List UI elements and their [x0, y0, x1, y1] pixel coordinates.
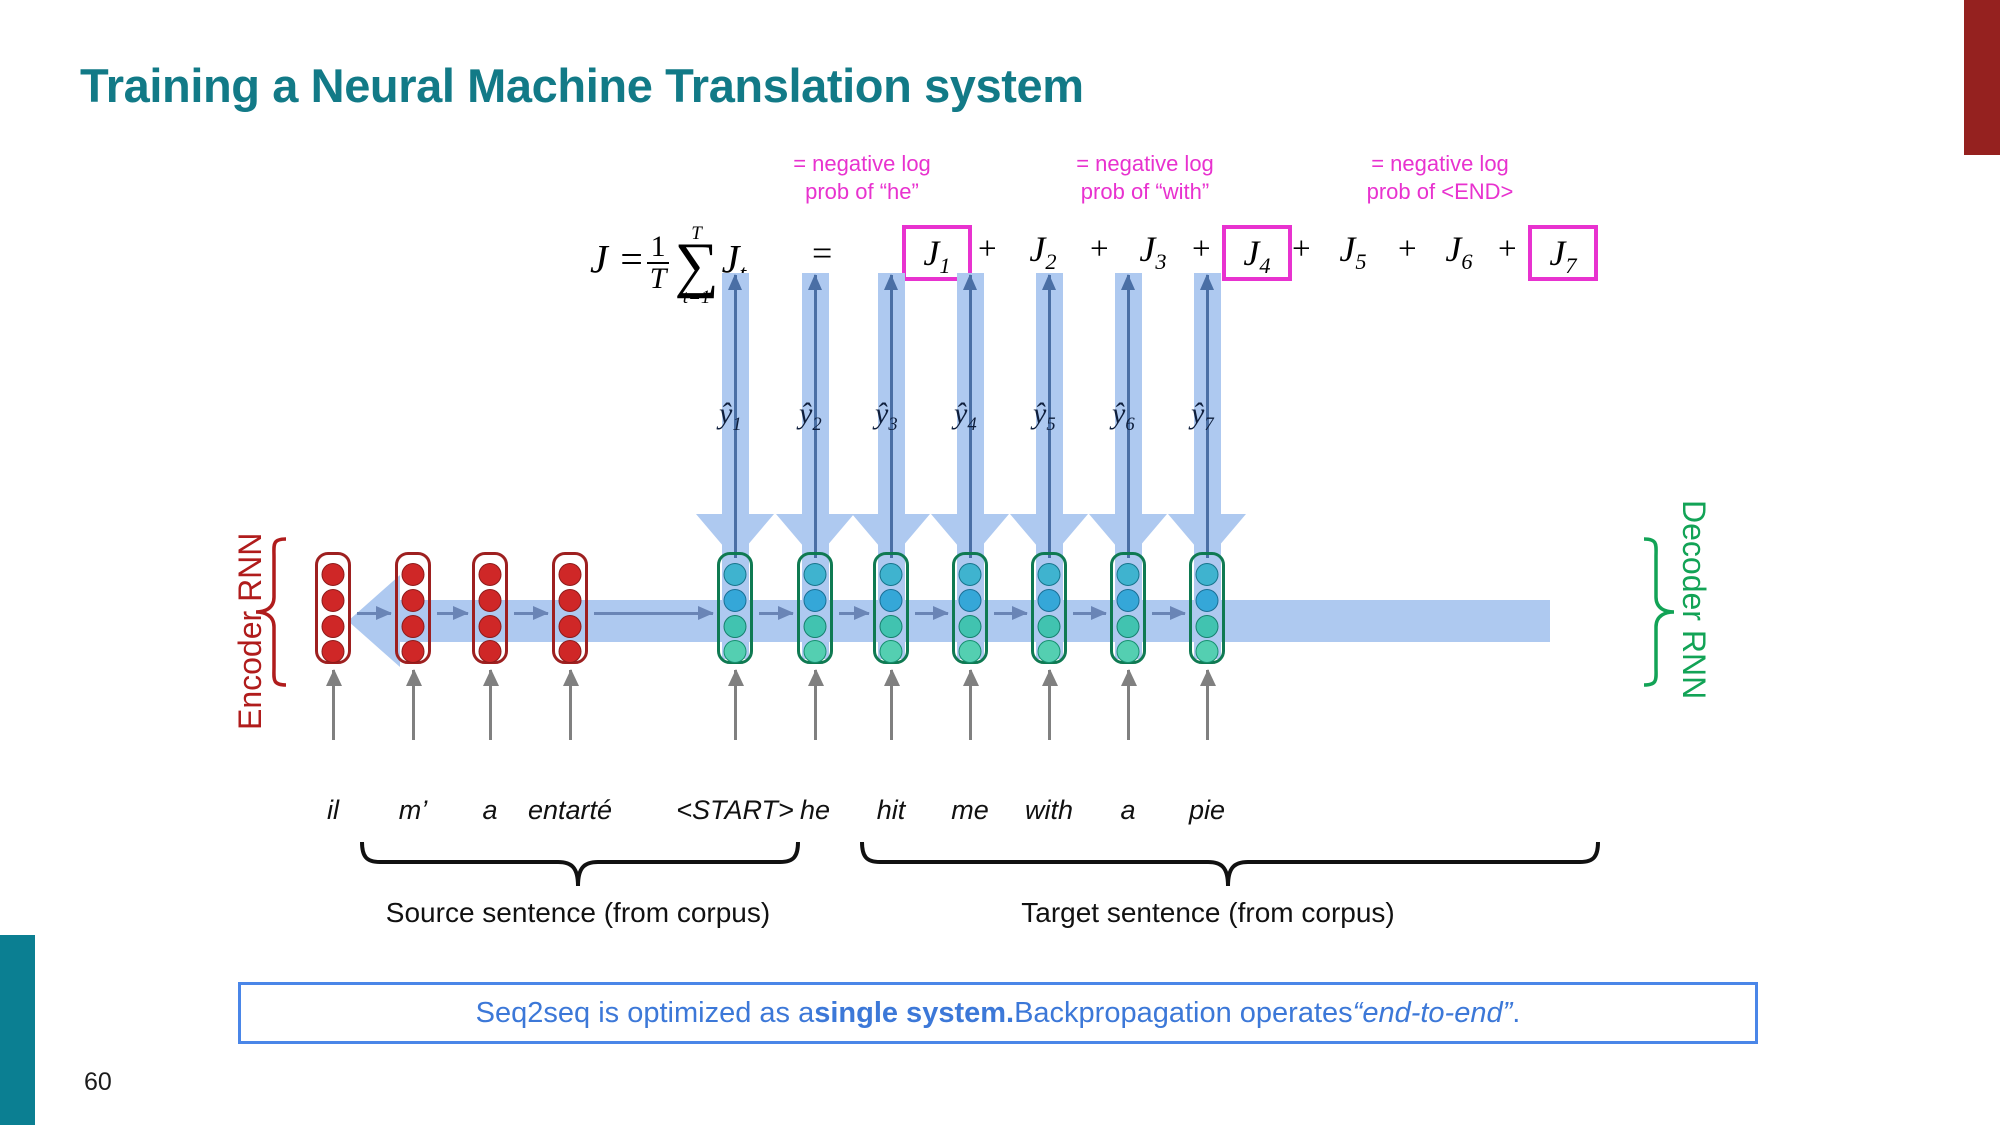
annotation-j1-line1: = negative log	[747, 150, 977, 178]
input-arrow-2	[412, 670, 415, 740]
prediction-label-6: ŷ6	[1112, 397, 1135, 436]
caption-italic: “end-to-end”	[1353, 997, 1513, 1030]
loss-term-j5: J5	[1322, 225, 1384, 273]
annotation-j7-line1: = negative log	[1325, 150, 1555, 178]
hidden-state-arrow-6	[839, 612, 869, 615]
hidden-state-arrow-10	[1152, 612, 1185, 615]
yhat-subscript: 5	[1046, 414, 1055, 435]
decoder-cell-2[interactable]	[797, 552, 833, 664]
decoder-cell-1[interactable]	[717, 552, 753, 664]
encoder-node	[322, 640, 345, 663]
loss-term-j3: J3	[1122, 225, 1184, 273]
decoder-node	[1117, 640, 1140, 663]
word-label-8: me	[951, 795, 989, 826]
encoder-node	[322, 563, 345, 586]
slide-canvas: Training a Neural Machine Translation sy…	[0, 0, 2000, 1125]
prediction-label-5: ŷ5	[1033, 397, 1056, 436]
decoder-cell-6[interactable]	[1110, 552, 1146, 664]
input-arrow-7	[890, 670, 893, 740]
decoder-rnn-label: Decoder RNN	[1675, 500, 1712, 699]
word-label-5: <START>	[676, 795, 794, 826]
encoder-node	[559, 640, 582, 663]
yhat-symbol: ŷ	[1191, 397, 1204, 430]
encoder-node	[402, 589, 425, 612]
decoder-node	[1117, 615, 1140, 638]
annotation-j4: = negative log prob of “with”	[1030, 150, 1260, 205]
decoder-node	[1196, 640, 1219, 663]
annotation-j1: = negative log prob of “he”	[747, 150, 977, 205]
decoder-cell-3[interactable]	[873, 552, 909, 664]
decoder-node	[804, 615, 827, 638]
prediction-label-4: ŷ4	[954, 397, 977, 436]
encoder-node	[402, 615, 425, 638]
hidden-state-arrow-1	[357, 612, 391, 615]
encoder-node	[559, 563, 582, 586]
input-arrow-9	[1048, 670, 1051, 740]
yhat-symbol: ŷ	[719, 397, 732, 430]
decoder-node	[1038, 615, 1061, 638]
plus-3: +	[1192, 225, 1211, 273]
word-label-9: with	[1025, 795, 1073, 826]
yhat-symbol: ŷ	[799, 397, 812, 430]
decoder-node	[1196, 589, 1219, 612]
encoder-cell-1[interactable]	[315, 552, 351, 664]
word-label-11: pie	[1189, 795, 1225, 826]
decoder-node	[724, 589, 747, 612]
decoder-node	[959, 563, 982, 586]
decoder-cell-5[interactable]	[1031, 552, 1067, 664]
encoder-cell-3[interactable]	[472, 552, 508, 664]
loss-terms-row: J1 + J2 + J3 + J4 + J5 + J6 + J7	[0, 225, 2000, 277]
caption-box: Seq2seq is optimized as a single system.…	[238, 982, 1758, 1044]
hidden-state-arrow-4	[594, 612, 713, 615]
hidden-state-arrow-5	[759, 612, 793, 615]
decoder-node	[959, 640, 982, 663]
decoder-node	[1196, 563, 1219, 586]
word-label-1: il	[327, 795, 339, 826]
input-arrow-5	[734, 670, 737, 740]
decoder-node	[804, 563, 827, 586]
plus-1: +	[978, 225, 997, 273]
encoder-node	[559, 615, 582, 638]
loss-term-j7: J7	[1528, 225, 1598, 281]
decoder-node	[1196, 615, 1219, 638]
decoder-brace	[1638, 535, 1678, 690]
decoder-node	[804, 640, 827, 663]
decoder-node	[1038, 640, 1061, 663]
input-arrow-6	[814, 670, 817, 740]
target-sentence-brace	[858, 838, 1606, 890]
decoder-node	[724, 640, 747, 663]
word-label-10: a	[1120, 795, 1135, 826]
plus-5: +	[1398, 225, 1417, 273]
source-sentence-brace	[358, 838, 806, 890]
yhat-subscript: 6	[1125, 414, 1134, 435]
word-label-2: m’	[399, 795, 428, 826]
loss-term-j2: J2	[1012, 225, 1074, 273]
annotation-j7: = negative log prob of <END>	[1325, 150, 1555, 205]
plus-6: +	[1498, 225, 1517, 273]
hidden-state-arrow-3	[514, 612, 548, 615]
encoder-node	[479, 563, 502, 586]
hidden-state-arrow-2	[437, 612, 468, 615]
yhat-symbol: ŷ	[1033, 397, 1046, 430]
decoder-node	[804, 589, 827, 612]
decoder-node	[880, 615, 903, 638]
encoder-brace	[252, 535, 292, 690]
hidden-state-arrow-8	[994, 612, 1027, 615]
decoder-node	[959, 615, 982, 638]
annotation-j7-line2: prob of <END>	[1325, 178, 1555, 206]
decoder-cell-7[interactable]	[1189, 552, 1225, 664]
encoder-node	[559, 589, 582, 612]
accent-bar-top-right	[1964, 0, 2000, 155]
page-number: 60	[84, 1068, 112, 1097]
decoder-node	[1038, 589, 1061, 612]
loss-term-j4: J4	[1222, 225, 1292, 281]
plus-2: +	[1090, 225, 1109, 273]
encoder-node	[479, 589, 502, 612]
encoder-node	[479, 615, 502, 638]
decoder-cell-4[interactable]	[952, 552, 988, 664]
encoder-node	[479, 640, 502, 663]
encoder-node	[322, 589, 345, 612]
prediction-label-1: ŷ1	[719, 397, 742, 436]
backprop-band-arrowhead-left	[348, 575, 400, 667]
annotation-j1-line2: prob of “he”	[747, 178, 977, 206]
source-sentence-label: Source sentence (from corpus)	[386, 897, 770, 929]
plus-4: +	[1292, 225, 1311, 273]
yhat-symbol: ŷ	[954, 397, 967, 430]
word-label-6: he	[800, 795, 830, 826]
prediction-label-3: ŷ3	[875, 397, 898, 436]
caption-bold: single system.	[814, 997, 1014, 1030]
yhat-subscript: 4	[967, 414, 976, 435]
word-label-4: entarté	[528, 795, 612, 826]
decoder-node	[724, 615, 747, 638]
decoder-node	[880, 640, 903, 663]
encoder-node	[402, 563, 425, 586]
caption-part3: .	[1512, 997, 1520, 1030]
caption-part1: Seq2seq is optimized as a	[476, 997, 815, 1030]
yhat-symbol: ŷ	[875, 397, 888, 430]
caption-part2: Backpropagation operates	[1014, 997, 1353, 1030]
yhat-symbol: ŷ	[1112, 397, 1125, 430]
encoder-node	[402, 640, 425, 663]
input-arrow-8	[969, 670, 972, 740]
input-arrow-3	[489, 670, 492, 740]
decoder-node	[1038, 563, 1061, 586]
hidden-state-arrow-9	[1073, 612, 1106, 615]
encoder-node	[322, 615, 345, 638]
decoder-node	[724, 563, 747, 586]
yhat-subscript: 3	[888, 414, 897, 435]
decoder-node	[1117, 589, 1140, 612]
loss-term-j6: J6	[1428, 225, 1490, 273]
prediction-label-2: ŷ2	[799, 397, 822, 436]
page-title: Training a Neural Machine Translation sy…	[80, 58, 1084, 113]
yhat-subscript: 1	[732, 414, 741, 435]
annotation-j4-line2: prob of “with”	[1030, 178, 1260, 206]
target-sentence-label: Target sentence (from corpus)	[1021, 897, 1395, 929]
encoder-cell-4[interactable]	[552, 552, 588, 664]
input-arrow-1	[332, 670, 335, 740]
accent-bar-bottom-left	[0, 935, 35, 1125]
input-arrow-4	[569, 670, 572, 740]
decoder-node	[959, 589, 982, 612]
yhat-subscript: 2	[812, 414, 821, 435]
yhat-subscript: 7	[1204, 414, 1213, 435]
decoder-node	[1117, 563, 1140, 586]
input-arrow-11	[1206, 670, 1209, 740]
word-label-7: hit	[877, 795, 906, 826]
input-arrow-10	[1127, 670, 1130, 740]
hidden-state-arrow-7	[915, 612, 948, 615]
decoder-node	[880, 563, 903, 586]
annotation-j4-line1: = negative log	[1030, 150, 1260, 178]
prediction-label-7: ŷ7	[1191, 397, 1214, 436]
word-label-3: a	[482, 795, 497, 826]
encoder-cell-2[interactable]	[395, 552, 431, 664]
decoder-node	[880, 589, 903, 612]
